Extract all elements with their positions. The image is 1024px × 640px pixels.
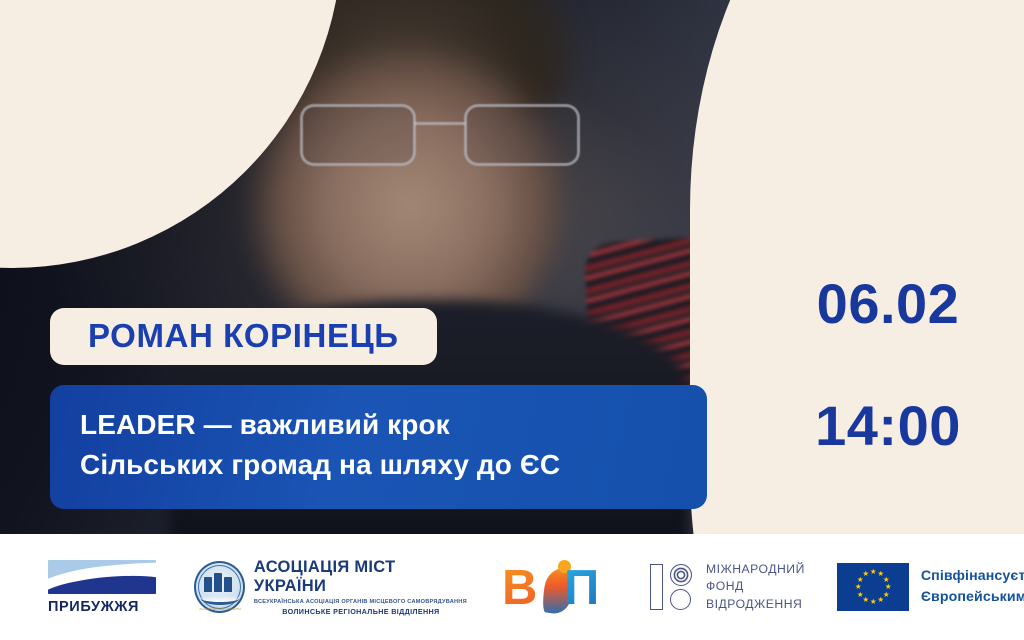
event-title-box: LEADER — важливий крок Сільських громад … (50, 385, 707, 509)
bar-spiral-circle-icon (650, 564, 696, 610)
amu-subtitle-1: ВСЕУКРАЇНСЬКА АСОЦІАЦІЯ ОРГАНІВ МІСЦЕВОГ… (254, 599, 468, 605)
logo-vup: В П (502, 560, 616, 614)
logo-international-renaissance-foundation: МІЖНАРОДНИЙ ФОНД ВІДРОДЖЕННЯ (650, 561, 805, 613)
logo-association-of-ukrainian-cities: АСОЦІАЦІЯ МІСТ УКРАЇНИ АСОЦІАЦІЯ МІСТ УК… (194, 558, 468, 616)
vup-letter-1: В (502, 564, 537, 613)
logo-prybuzhzhia-label: ПРИБУЖЖЯ (48, 599, 139, 615)
irf-line-3: ВІДРОДЖЕННЯ (706, 596, 805, 613)
speaker-name-text: РОМАН КОРІНЕЦЬ (88, 319, 399, 352)
speaker-name-badge: РОМАН КОРІНЕЦЬ (50, 308, 437, 365)
eu-flag-icon: ★★★★★★★★★★★★ (837, 563, 909, 611)
vup-letter-2: П (564, 564, 599, 613)
eu-line-1: Співфінансується (921, 566, 1024, 587)
partner-logo-bar: ПРИБУЖЖЯ АСОЦІАЦІЯ МІСТ УКРАЇНИ АСОЦІАЦІ… (0, 534, 1024, 640)
vup-figure-icon: В П (502, 560, 616, 614)
event-time: 14:00 (768, 398, 1008, 454)
glasses-icon (296, 96, 596, 182)
city-towers-emblem-icon: АСОЦІАЦІЯ МІСТ УКРАЇНИ (194, 561, 245, 613)
irf-line-2: ФОНД (706, 578, 805, 595)
amu-title: АСОЦІАЦІЯ МІСТ УКРАЇНИ (254, 558, 468, 596)
event-date: 06.02 (768, 276, 1008, 332)
promo-banner: РОМАН КОРІНЕЦЬ LEADER — важливий крок Сі… (0, 0, 1024, 640)
amu-subtitle-2: ВОЛИНСЬКЕ РЕГІОНАЛЬНЕ ВІДДІЛЕННЯ (254, 607, 468, 616)
irf-line-1: МІЖНАРОДНИЙ (706, 561, 805, 578)
wave-mark-icon (48, 560, 156, 594)
emblem-caption: АСОЦІАЦІЯ МІСТ УКРАЇНИ (191, 607, 249, 611)
eu-line-2: Європейським Союзом (921, 587, 1024, 608)
event-title-line-1: LEADER — важливий крок (80, 405, 677, 445)
logo-european-union: ★★★★★★★★★★★★ Співфінансується Європейськ… (837, 563, 1024, 611)
event-title-line-2: Сільських громад на шляху до ЄС (80, 445, 677, 485)
event-datetime: 06.02 14:00 (768, 276, 1008, 454)
logo-prybuzhzhia: ПРИБУЖЖЯ (48, 560, 156, 615)
